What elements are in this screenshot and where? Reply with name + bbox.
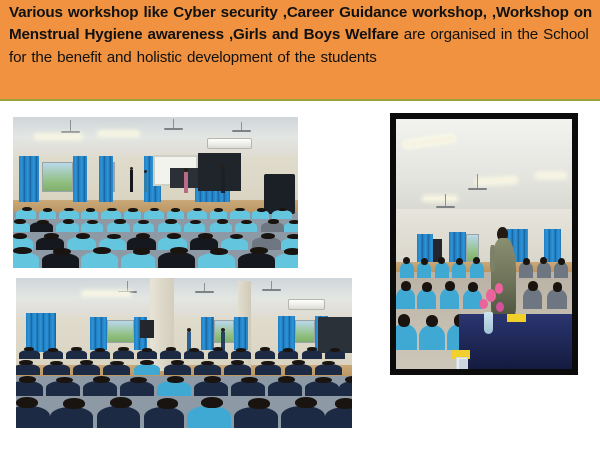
- window-curtain: [99, 156, 113, 201]
- flower-vase: [484, 312, 493, 335]
- hall-cyan-scene: [13, 117, 298, 268]
- speaker-person: [489, 227, 517, 317]
- ceiling-fan-icon: [204, 283, 205, 292]
- crowd-row: [16, 394, 352, 428]
- heading-text: Various workshop like Cyber security ,Ca…: [9, 2, 596, 69]
- stage-backdrop: [198, 153, 241, 191]
- speaker-scene: [396, 119, 572, 369]
- stage-person-suit: [221, 165, 225, 189]
- hall-navy-scene: [16, 278, 352, 428]
- window-curtain: [19, 156, 39, 201]
- flower-icon: [496, 302, 504, 312]
- draped-table: [459, 314, 572, 369]
- yellow-paper: [507, 314, 526, 322]
- hall-window: [113, 162, 115, 192]
- crowd-row: [16, 373, 352, 397]
- loudspeaker-icon: [140, 320, 153, 338]
- stage-person: [130, 167, 133, 190]
- student-crowd: [16, 344, 352, 428]
- crowd-row: [13, 245, 298, 268]
- air-conditioner-icon: [207, 138, 253, 149]
- ceiling-fan-icon: [173, 119, 174, 130]
- crowd-row: [396, 251, 572, 277]
- air-conditioner-icon: [288, 299, 325, 310]
- tube-light-icon: [83, 292, 130, 295]
- water-glass: [456, 357, 468, 372]
- ceiling: [396, 119, 572, 219]
- hall-window: [295, 320, 315, 343]
- tube-light-icon: [537, 174, 565, 177]
- photo-hall-cyan: [13, 117, 298, 268]
- stage-person-saree: [184, 168, 188, 189]
- ceiling-fan-icon: [445, 194, 446, 207]
- ceiling-fan-icon: [70, 120, 71, 132]
- tube-light-icon: [36, 135, 82, 138]
- photo-speaker: [390, 113, 578, 375]
- stage-person: [144, 170, 147, 190]
- ceiling-fan-icon: [241, 122, 242, 131]
- photo-hall-navy: [16, 278, 352, 428]
- ceiling-fan-icon: [477, 174, 478, 189]
- tube-light-icon: [99, 132, 139, 135]
- hall-window: [42, 162, 73, 192]
- window-curtain: [73, 156, 87, 201]
- heading-banner: Various workshop like Cyber security ,Ca…: [0, 0, 600, 101]
- student-crowd: [13, 205, 298, 268]
- tube-light-icon: [424, 197, 456, 200]
- hall-window: [107, 320, 134, 343]
- flower-icon: [479, 299, 488, 309]
- ceiling-fan-icon: [127, 281, 128, 292]
- slide-canvas: Various workshop like Cyber security ,Ca…: [0, 0, 600, 450]
- ceiling-fan-icon: [271, 281, 272, 290]
